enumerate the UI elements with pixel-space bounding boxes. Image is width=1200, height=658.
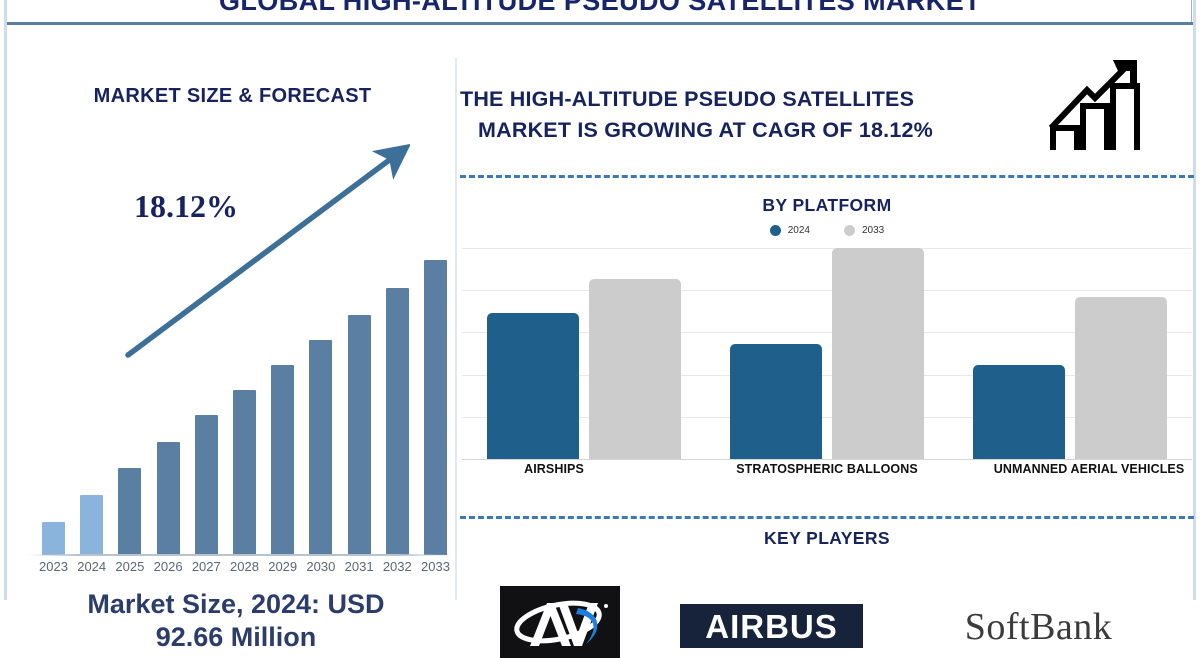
divider-dashed-top <box>460 175 1194 178</box>
legend-swatch-icon <box>844 225 855 236</box>
forecast-bar <box>42 522 65 555</box>
forecast-bar <box>195 415 218 555</box>
market-size-callout: Market Size, 2024: USD 92.66 Million <box>6 588 466 654</box>
platform-chart-legend: 20242033 <box>458 225 1196 236</box>
platform-category-label: AIRSHIPS <box>524 462 584 476</box>
platform-bar-2024 <box>730 344 822 459</box>
forecast-year-label: 2031 <box>339 559 379 574</box>
forecast-bar <box>233 390 256 555</box>
platform-panel: THE HIGH-ALTITUDE PSEUDO SATELLITES MARK… <box>458 58 1196 600</box>
forecast-year-label: 2025 <box>110 559 150 574</box>
legend-swatch-icon <box>770 225 781 236</box>
gridline <box>462 290 1192 291</box>
forecast-bar <box>386 288 409 555</box>
platform-category-label: UNMANNED AERIAL VEHICLES <box>994 462 1185 476</box>
platform-category-axis: AIRSHIPSSTRATOSPHERIC BALLOONSUNMANNED A… <box>458 462 1196 486</box>
growth-headline-line-1: THE HIGH-ALTITUDE PSEUDO SATELLITES <box>460 87 914 111</box>
platform-bar-2024 <box>487 313 579 459</box>
softbank-logo: SoftBank <box>926 602 1151 652</box>
title-underline-rule <box>6 22 1194 25</box>
forecast-year-label: 2033 <box>416 559 456 574</box>
panel-divider <box>455 58 457 600</box>
left-rail <box>4 0 7 600</box>
platform-chart-axis <box>462 459 1192 460</box>
forecast-year-label: 2032 <box>377 559 417 574</box>
legend-item-2033[interactable]: 2033 <box>844 225 884 236</box>
av-logo <box>500 586 620 658</box>
bar-growth-icon <box>1043 52 1147 156</box>
platform-bar-2024 <box>973 365 1065 459</box>
left-panel-heading: MARKET SIZE & FORECAST <box>10 85 455 108</box>
infographic-root: GLOBAL HIGH-ALTITUDE PSEUDO SATELLITES M… <box>0 0 1200 600</box>
forecast-bar-group <box>24 195 454 555</box>
key-players-heading: KEY PLAYERS <box>458 528 1196 549</box>
forecast-year-label: 2026 <box>148 559 188 574</box>
growth-headline-line-2: MARKET IS GROWING AT CAGR OF 18.12% <box>460 115 1040 146</box>
platform-bar-chart <box>462 248 1192 460</box>
by-platform-heading: BY PLATFORM <box>458 195 1196 216</box>
legend-label: 2024 <box>788 225 810 236</box>
key-players-logos: AIRBUS SoftBank <box>458 556 1196 658</box>
forecast-year-axis: 2023202420252026202720282029203020312032… <box>24 559 454 581</box>
forecast-bar <box>424 260 447 555</box>
forecast-bar <box>80 495 103 555</box>
airbus-logo: AIRBUS <box>680 604 863 648</box>
forecast-year-label: 2024 <box>72 559 112 574</box>
platform-bar-2033 <box>832 248 924 459</box>
platform-bar-2033 <box>1075 297 1167 459</box>
forecast-year-label: 2023 <box>34 559 74 574</box>
forecast-year-label: 2027 <box>186 559 226 574</box>
market-size-line-2: 92.66 Million <box>156 622 317 652</box>
forecast-bar <box>309 340 332 555</box>
forecast-year-label: 2028 <box>225 559 265 574</box>
market-size-line-1: Market Size, 2024: USD <box>87 589 384 619</box>
divider-dashed-bottom <box>460 516 1194 519</box>
platform-category-label: STRATOSPHERIC BALLOONS <box>736 462 918 476</box>
page-title: GLOBAL HIGH-ALTITUDE PSEUDO SATELLITES M… <box>0 0 1200 17</box>
market-size-panel: MARKET SIZE & FORECAST 18.12% 2023202420… <box>10 60 455 600</box>
forecast-bar <box>157 442 180 555</box>
legend-item-2024[interactable]: 2024 <box>770 225 810 236</box>
forecast-baseline <box>28 554 448 556</box>
forecast-bar <box>271 365 294 555</box>
forecast-bar <box>118 468 141 555</box>
forecast-year-label: 2029 <box>263 559 303 574</box>
airbus-logo-text: AIRBUS <box>705 610 838 643</box>
forecast-bar <box>348 315 371 555</box>
gridline <box>462 248 1192 249</box>
platform-bar-2033 <box>589 279 681 459</box>
forecast-year-label: 2030 <box>301 559 341 574</box>
growth-headline: THE HIGH-ALTITUDE PSEUDO SATELLITES MARK… <box>460 84 1040 145</box>
legend-label: 2033 <box>862 225 884 236</box>
